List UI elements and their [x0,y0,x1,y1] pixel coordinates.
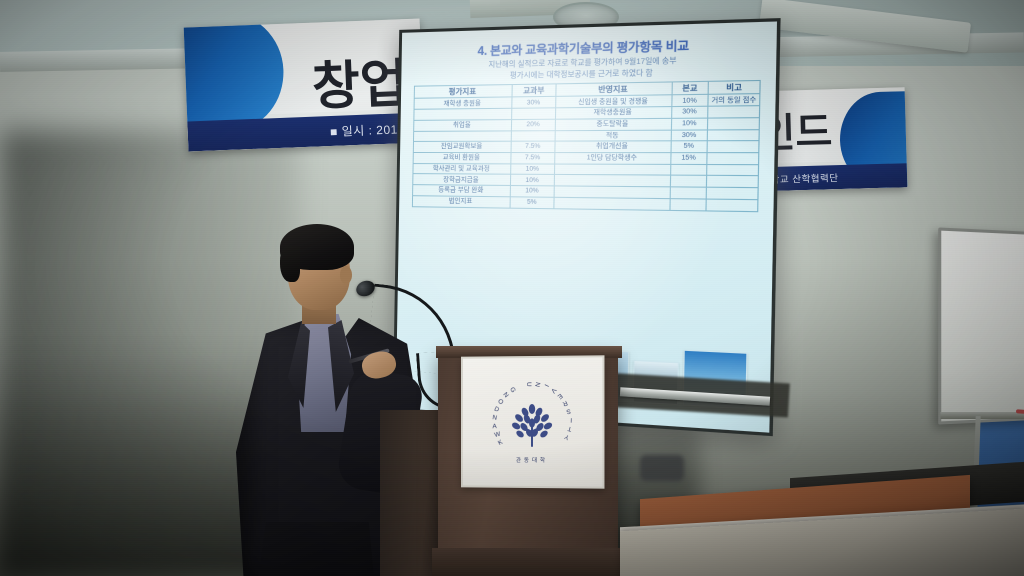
logo-ring-char: S [564,407,572,415]
table-cell-school [669,199,706,211]
table-cell-moe: 10% [510,175,554,186]
table-row: 적동30% [413,129,759,142]
whiteboard-tray [940,412,1024,419]
presenter-ear [340,266,352,284]
table-cell-metric: 교육비 환원율 [413,152,511,163]
table-cell-metric: 학사관리 및 교육과정 [413,163,511,174]
table-header-cell: 교과부 [512,84,556,97]
podium-base [432,548,628,576]
tree-emblem-icon [507,399,557,449]
logo-ring-char: T [565,424,573,432]
table-cell-note [707,141,759,153]
university-logo: KWANDONG UNIVERSITY [485,374,581,471]
table-header-cell: 본교 [672,82,709,95]
table-cell-moe: 7.5% [511,141,555,152]
whiteboard [930,230,1024,490]
logo-ring-char: N [492,414,500,422]
logo-ring-char: A [492,423,498,430]
logo-ring-char: Y [562,432,571,441]
table-cell-applied [554,164,670,176]
table-cell-moe: 30% [512,97,556,109]
table-header-cell: 비고 [708,81,760,95]
table-cell-applied: 중도탈락율 [555,118,671,130]
table-cell-note [707,117,759,129]
logo-ring-char: N [533,381,541,389]
table-cell-note [707,129,759,141]
presenter-hair-side [280,246,300,282]
table-cell-note [706,199,758,211]
evaluation-table-body: 재학생 충원율30%신입생 충원율 및 경쟁율10%거의 동일 점수재학생충원율… [412,94,760,211]
banner-swoosh-icon [184,19,286,133]
table-cell-school [670,187,707,199]
banner-left-headline: 창업 [310,41,408,120]
whiteboard-surface [938,227,1024,424]
table-cell-moe: 10% [510,186,554,198]
table-cell-applied: 1인당 담당학생수 [555,153,671,165]
table-cell-applied: 취업개선율 [555,141,671,152]
table-cell-note [707,153,759,165]
table-cell-applied: 재학생충원율 [555,107,671,119]
logo-ring-char: I [568,416,572,423]
table-cell-school: 5% [671,141,708,153]
podium-front-panel: KWANDONG UNIVERSITY [461,355,604,488]
chair [640,455,684,481]
table-cell-metric: 취업율 [413,119,511,131]
table-cell-moe: 7.5% [511,153,555,164]
table-cell-metric [413,130,511,141]
table-cell-applied: 적동 [555,130,671,142]
table-cell-note: 거의 동일 점수 [708,94,760,106]
table-row: 잔임교원확보율7.5%취업개선율5% [413,141,759,153]
presentation-room-photo: 창업 ■ 일시 : 2012. 1 마인드 주관 : 관동대학교 산학협력단 4… [0,0,1024,576]
table-cell-metric [414,108,512,120]
presenter-legs [256,522,376,576]
table-cell-moe: 20% [511,119,555,130]
table-cell-note [706,187,758,199]
logo-ring-char: U [525,382,532,389]
table-cell-applied [554,197,670,210]
table-cell-school [670,176,707,188]
table-cell-moe [511,108,555,120]
table-cell-school: 10% [671,95,708,107]
table-cell-school [670,164,707,176]
table-cell-moe: 10% [510,164,554,175]
banner-left: 창업 ■ 일시 : 2012. 1 [184,19,425,152]
table-cell-school: 10% [671,118,708,130]
table-cell-metric: 장학금지급율 [413,174,511,186]
podium: KWANDONG UNIVERSITY [376,340,646,576]
table-cell-note [707,164,759,176]
university-logo-korean: 관동대학 [485,456,581,465]
table-cell-metric: 법인지표 [412,196,510,208]
logo-ring-char: G [508,386,517,395]
table-cell-school: 15% [670,153,707,165]
table-cell-school: 30% [671,129,708,141]
evaluation-table: 평가지표 교과부 반영지표 본교 비고 재학생 충원율30%신입생 충원율 및 … [412,80,761,211]
table-cell-moe [511,130,555,141]
table-cell-note [706,176,758,188]
logo-ring-char: K [497,438,506,447]
table-cell-note [708,106,760,118]
table-cell-school: 30% [671,106,708,118]
table-cell-metric: 잔임교원확보율 [413,141,511,152]
logo-ring-char: I [542,383,550,389]
table-cell-moe: 5% [510,197,554,209]
